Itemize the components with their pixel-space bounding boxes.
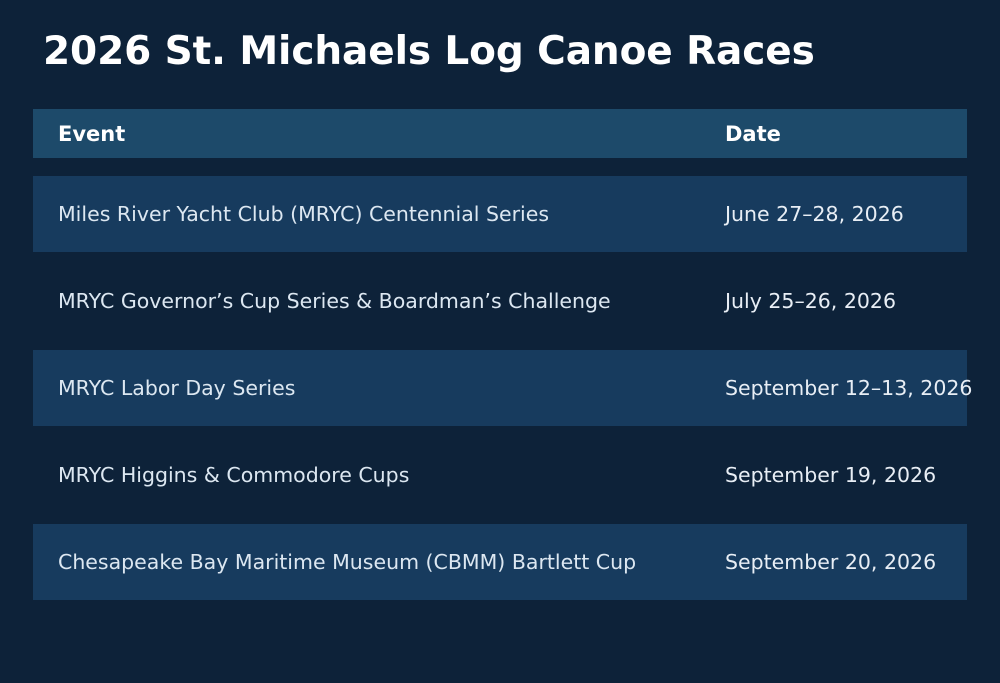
cell-event-name: MRYC Higgins & Commodore Cups	[33, 463, 708, 487]
cell-event-date: September 12–13, 2026	[708, 376, 967, 400]
column-header-event: Event	[33, 122, 708, 146]
table-header-row: Event Date	[33, 109, 967, 158]
cell-event-name: MRYC Governor’s Cup Series & Boardman’s …	[33, 289, 708, 313]
cell-event-date: July 25–26, 2026	[708, 289, 967, 313]
schedule-page: 2026 St. Michaels Log Canoe Races Event …	[0, 0, 1000, 683]
cell-event-date: September 19, 2026	[708, 463, 967, 487]
column-header-date: Date	[708, 122, 967, 146]
cell-event-name: MRYC Labor Day Series	[33, 376, 708, 400]
cell-event-date: June 27–28, 2026	[708, 202, 967, 226]
table-row: Miles River Yacht Club (MRYC) Centennial…	[33, 176, 967, 252]
table-row: MRYC Governor’s Cup Series & Boardman’s …	[33, 263, 967, 339]
page-title: 2026 St. Michaels Log Canoe Races	[43, 30, 815, 75]
race-schedule-table: Event Date Miles River Yacht Club (MRYC)…	[33, 109, 967, 611]
cell-event-name: Chesapeake Bay Maritime Museum (CBMM) Ba…	[33, 550, 708, 574]
table-row: Chesapeake Bay Maritime Museum (CBMM) Ba…	[33, 524, 967, 600]
table-row: MRYC Higgins & Commodore Cups September …	[33, 437, 967, 513]
cell-event-date: September 20, 2026	[708, 550, 967, 574]
table-row: MRYC Labor Day Series September 12–13, 2…	[33, 350, 967, 426]
cell-event-name: Miles River Yacht Club (MRYC) Centennial…	[33, 202, 708, 226]
